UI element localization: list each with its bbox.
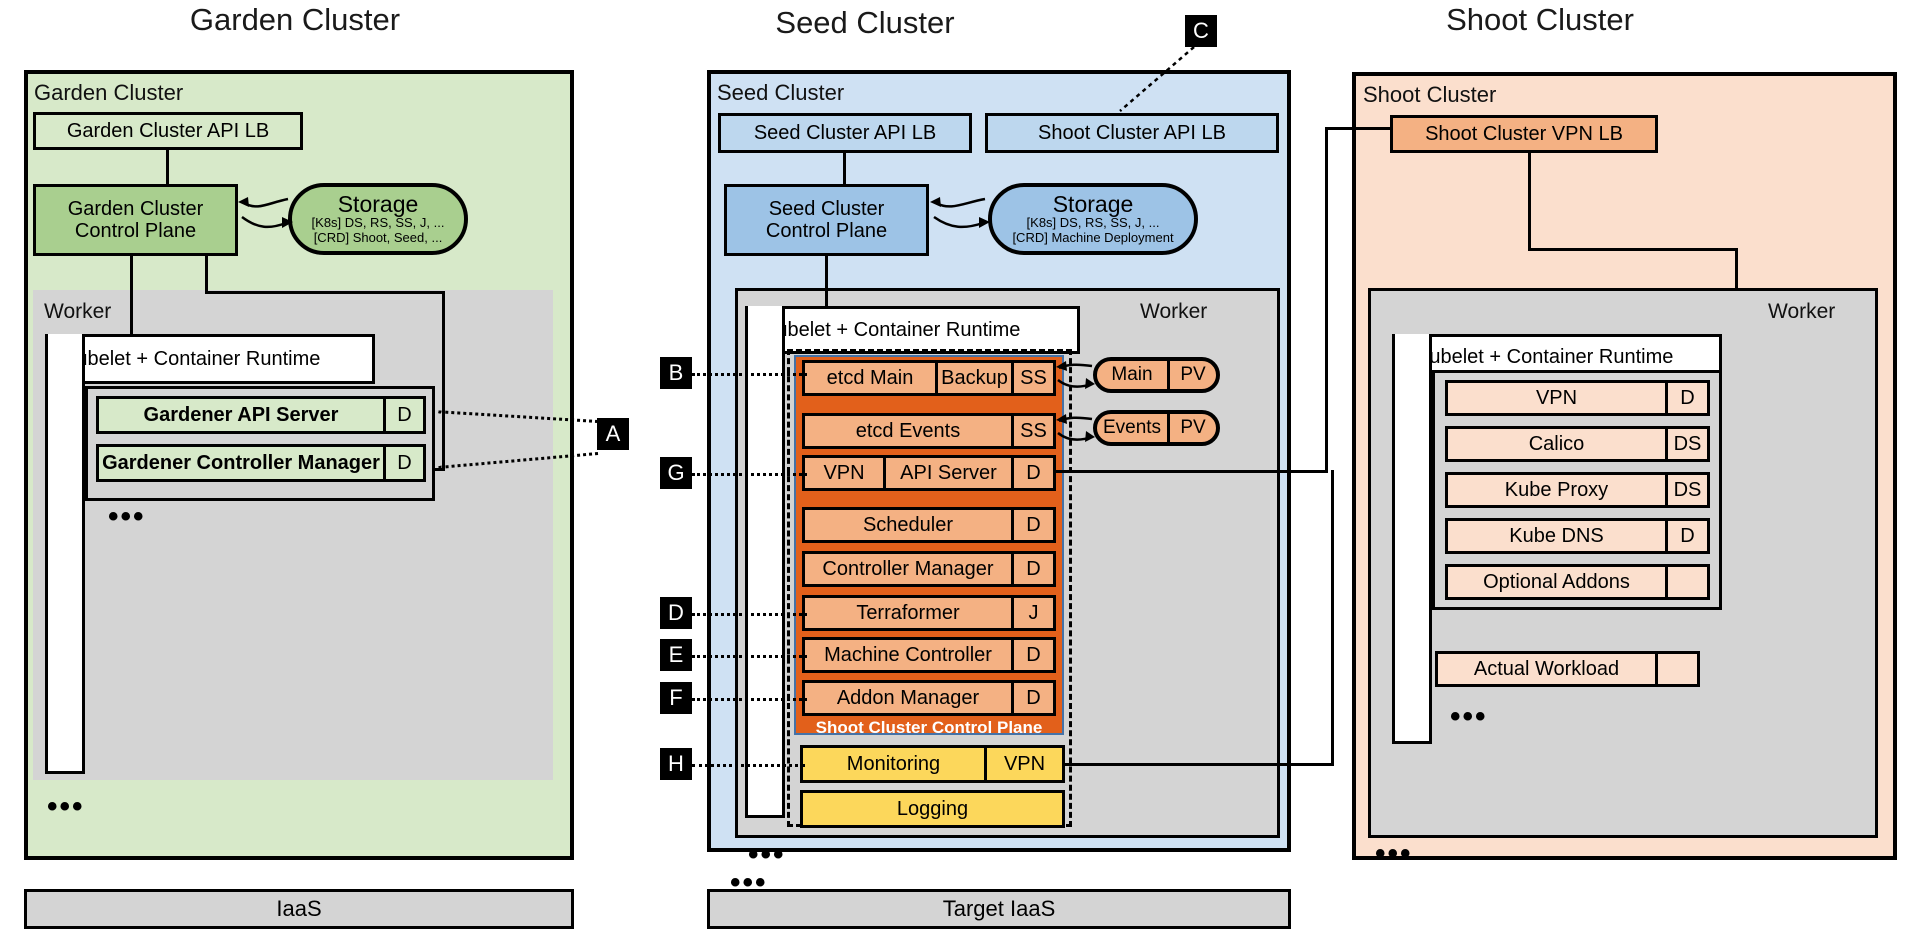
shoot-component-badge-3: D xyxy=(1665,521,1707,551)
shoot-column-title: Shoot Cluster xyxy=(1340,2,1740,38)
seed-cp-storage-arrows xyxy=(929,185,991,255)
marker-b-leader xyxy=(692,373,807,376)
garden-control-plane: Garden Cluster Control Plane xyxy=(33,184,238,256)
garden-kubelet-stem xyxy=(45,334,85,774)
seed-component-mid-0: Backup xyxy=(935,363,1011,393)
seed-component-label-4: Controller Manager xyxy=(805,554,1011,584)
garden-kubelet-stem-cover xyxy=(48,334,82,386)
seed-kubelet-stem xyxy=(745,306,785,818)
seed-cluster-panel-label: Seed Cluster xyxy=(717,80,844,106)
marker-g[interactable]: G xyxy=(660,457,692,489)
seed-api-lb[interactable]: Seed Cluster API LB xyxy=(718,113,972,153)
garden-cp-right-down xyxy=(205,256,208,294)
seed-volume-1: Events PV xyxy=(1093,410,1220,446)
marker-d-leader xyxy=(692,613,807,616)
garden-component-label-1: Gardener Controller Manager xyxy=(99,447,383,479)
seed-observability-badge-0: VPN xyxy=(984,748,1062,780)
shoot-component-row-0[interactable]: VPN D xyxy=(1445,380,1710,416)
shoot-kubelet-stem-cover xyxy=(1395,334,1429,380)
marker-e[interactable]: E xyxy=(660,639,692,671)
seed-monitoring-vpn-h xyxy=(1062,763,1334,766)
shoot-api-lb[interactable]: Shoot Cluster API LB xyxy=(985,113,1279,153)
marker-g-leader xyxy=(692,473,807,476)
seed-volume-label-1: Events xyxy=(1097,414,1167,442)
seed-component-badge-4: D xyxy=(1011,554,1053,584)
seed-component-row-2[interactable]: VPN API Server D xyxy=(802,455,1056,491)
seed-etcd-main-pv-arrows xyxy=(1056,358,1096,400)
seed-kubelet-stem-cover xyxy=(748,306,782,356)
seed-component-label-6: Machine Controller xyxy=(805,640,1011,670)
seed-observability-row-0[interactable]: Monitoring VPN xyxy=(800,745,1065,783)
shoot-component-row-4[interactable]: Optional Addons xyxy=(1445,564,1710,600)
seed-observability-label-1: Logging xyxy=(803,793,1062,825)
shoot-component-badge-4 xyxy=(1665,567,1707,597)
seed-iaas-bar: Target IaaS xyxy=(707,889,1291,929)
garden-storage: Storage [K8s] DS, RS, SS, J, ... [CRD] S… xyxy=(288,183,468,255)
shoot-kubelet-stem xyxy=(1392,334,1432,744)
seed-cp-to-kubelet-connector xyxy=(825,256,828,310)
marker-h[interactable]: H xyxy=(660,748,692,780)
garden-control-plane-line2: Control Plane xyxy=(75,220,196,242)
shoot-kubelet-label: Kubelet + Container Runtime xyxy=(1416,346,1673,369)
garden-control-plane-line1: Garden Cluster xyxy=(68,198,204,220)
marker-e-leader xyxy=(692,655,807,658)
garden-cp-right-across xyxy=(205,291,445,294)
shoot-vpn-lb[interactable]: Shoot Cluster VPN LB xyxy=(1390,115,1658,153)
seed-worker-label: Worker xyxy=(1140,300,1207,324)
garden-storage-crd: [CRD] Shoot, Seed, ... xyxy=(314,231,443,246)
seed-worker-ellipsis: ••• xyxy=(748,846,786,864)
shoot-component-label-1: Calico xyxy=(1448,429,1665,459)
shoot-vpnlb-down xyxy=(1528,153,1531,250)
garden-storage-k8s: [K8s] DS, RS, SS, J, ... xyxy=(312,216,445,231)
shoot-component-label-2: Kube Proxy xyxy=(1448,475,1665,505)
seed-component-badge-0: SS xyxy=(1011,363,1053,393)
seed-control-plane: Seed Cluster Control Plane xyxy=(724,184,929,256)
marker-c[interactable]: C xyxy=(1185,15,1217,47)
seed-component-label-5: Terraformer xyxy=(805,598,1011,628)
seed-apiserver-to-shoot-h xyxy=(1056,470,1328,473)
shoot-component-row-1[interactable]: Calico DS xyxy=(1445,426,1710,462)
shoot-component-badge-2: DS xyxy=(1665,475,1707,505)
shoot-workload-label: Actual Workload xyxy=(1438,654,1655,684)
shoot-component-badge-1: DS xyxy=(1665,429,1707,459)
shoot-workload-row[interactable]: Actual Workload xyxy=(1435,651,1700,687)
seed-volume-badge-0: PV xyxy=(1167,361,1216,389)
marker-a[interactable]: A xyxy=(597,418,629,450)
marker-f[interactable]: F xyxy=(660,682,692,714)
seed-component-label-0: etcd Main xyxy=(805,363,935,393)
seed-control-plane-line2: Control Plane xyxy=(766,220,887,242)
garden-component-row-0[interactable]: Gardener API Server D xyxy=(96,396,426,434)
seed-component-row-0[interactable]: etcd Main Backup SS xyxy=(802,360,1056,396)
seed-component-row-4[interactable]: Controller Manager D xyxy=(802,551,1056,587)
shoot-component-row-3[interactable]: Kube DNS D xyxy=(1445,518,1710,554)
seed-lb-to-cp-connector xyxy=(843,153,846,186)
seed-apiserver-to-shoot-top xyxy=(1325,127,1393,130)
seed-component-row-1[interactable]: etcd Events SS xyxy=(802,413,1056,449)
garden-cp-right-down2 xyxy=(442,291,445,471)
seed-monitoring-vpn-v xyxy=(1331,470,1334,765)
shoot-component-badge-0: D xyxy=(1665,383,1707,413)
shoot-component-row-2[interactable]: Kube Proxy DS xyxy=(1445,472,1710,508)
garden-cluster-panel-label: Garden Cluster xyxy=(34,80,183,106)
garden-component-badge-1: D xyxy=(383,447,423,479)
garden-component-row-1[interactable]: Gardener Controller Manager D xyxy=(96,444,426,482)
seed-volume-label-0: Main xyxy=(1097,361,1167,389)
marker-b[interactable]: B xyxy=(660,357,692,389)
shoot-vpnlb-across xyxy=(1528,248,1738,251)
seed-component-mid-2: VPN xyxy=(805,458,883,488)
seed-component-badge-6: D xyxy=(1011,640,1053,670)
shoot-component-label-3: Kube DNS xyxy=(1448,521,1665,551)
seed-component-row-7[interactable]: Addon Manager D xyxy=(802,680,1056,716)
seed-volume-badge-1: PV xyxy=(1167,414,1216,442)
seed-component-label-1: etcd Events xyxy=(805,416,1011,446)
seed-volume-0: Main PV xyxy=(1093,357,1220,393)
seed-component-badge-3: D xyxy=(1011,510,1053,540)
seed-storage-k8s: [K8s] DS, RS, SS, J, ... xyxy=(1027,216,1160,231)
garden-column-title: Garden Cluster xyxy=(30,2,560,38)
garden-lb-to-cp-connector xyxy=(166,150,169,186)
garden-storage-title: Storage xyxy=(338,192,419,216)
shoot-control-plane-block xyxy=(794,355,1064,735)
garden-api-lb[interactable]: Garden Cluster API LB xyxy=(33,112,303,150)
shoot-cluster-panel-label: Shoot Cluster xyxy=(1363,82,1496,108)
marker-f-leader xyxy=(692,698,807,701)
seed-etcd-events-pv-arrows xyxy=(1056,411,1096,453)
seed-control-plane-line1: Seed Cluster xyxy=(769,198,885,220)
marker-h-leader xyxy=(692,764,805,767)
garden-pod-ellipsis: ••• xyxy=(108,508,146,526)
seed-component-label-3: Scheduler xyxy=(805,510,1011,540)
shoot-panel-ellipsis: ••• xyxy=(1375,845,1413,863)
seed-component-label-2: API Server xyxy=(883,458,1011,488)
seed-component-badge-1: SS xyxy=(1011,416,1053,446)
seed-component-row-5[interactable]: Terraformer J xyxy=(802,595,1056,631)
shoot-component-label-4: Optional Addons xyxy=(1448,567,1665,597)
marker-c-leader xyxy=(1110,45,1200,115)
seed-apiserver-to-shoot-v xyxy=(1325,127,1328,472)
garden-component-badge-0: D xyxy=(383,399,423,431)
seed-observability-label-0: Monitoring xyxy=(803,748,984,780)
shoot-workload-badge xyxy=(1655,654,1697,684)
seed-component-row-3[interactable]: Scheduler D xyxy=(802,507,1056,543)
garden-component-label-0: Gardener API Server xyxy=(99,399,383,431)
seed-component-row-6[interactable]: Machine Controller D xyxy=(802,637,1056,673)
seed-kubelet-label: Kubelet + Container Runtime xyxy=(763,319,1020,342)
shoot-workload-ellipsis: ••• xyxy=(1450,708,1488,726)
marker-d[interactable]: D xyxy=(660,597,692,629)
seed-storage-title: Storage xyxy=(1053,192,1134,216)
garden-worker-ellipsis: ••• xyxy=(47,798,85,816)
seed-storage-crd: [CRD] Machine Deployment xyxy=(1012,231,1173,246)
shoot-worker-label: Worker xyxy=(1768,300,1835,324)
shoot-control-plane-title: Shoot Cluster Control Plane xyxy=(794,719,1064,736)
garden-kubelet-label: Kubelet + Container Runtime xyxy=(63,348,320,371)
seed-component-badge-7: D xyxy=(1011,683,1053,713)
seed-observability-row-1[interactable]: Logging xyxy=(800,790,1065,828)
shoot-component-label-0: VPN xyxy=(1448,383,1665,413)
seed-component-badge-2: D xyxy=(1011,458,1053,488)
garden-iaas-bar: IaaS xyxy=(24,889,574,929)
seed-component-label-7: Addon Manager xyxy=(805,683,1011,713)
garden-cp-storage-arrows xyxy=(238,185,294,255)
seed-storage: Storage [K8s] DS, RS, SS, J, ... [CRD] M… xyxy=(988,183,1198,255)
garden-cp-to-kubelet-connector xyxy=(130,256,133,336)
garden-worker-label: Worker xyxy=(44,300,111,324)
seed-column-title: Seed Cluster xyxy=(700,5,1030,41)
seed-component-badge-5: J xyxy=(1011,598,1053,628)
